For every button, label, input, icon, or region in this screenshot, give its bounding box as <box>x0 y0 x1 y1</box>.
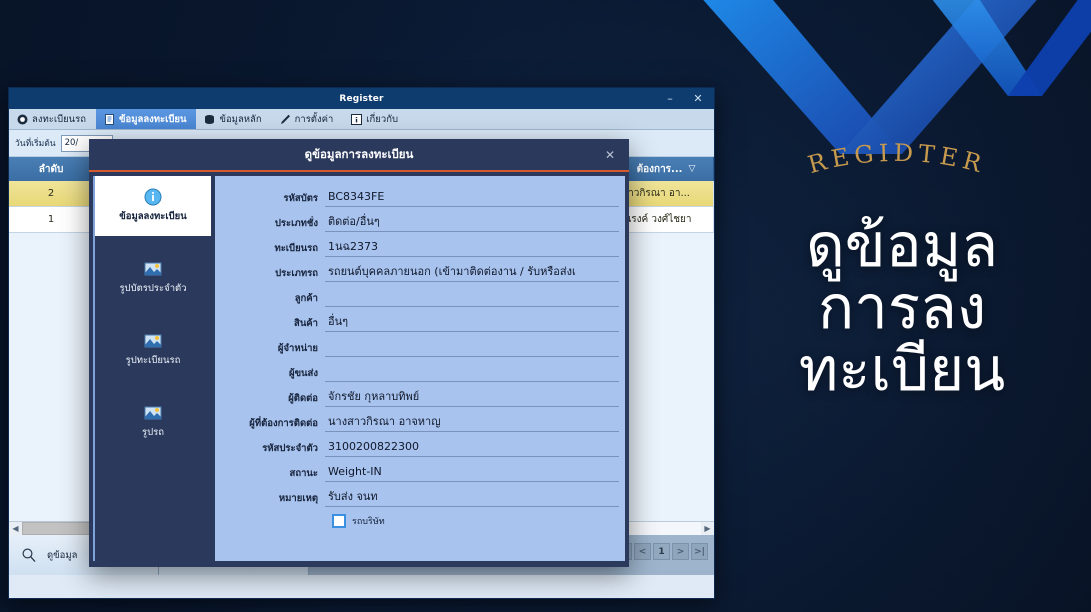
sidebar-item-id-card-image[interactable]: รูปบัตรประจำตัว <box>95 248 211 308</box>
tab-label: ข้อมูลหลัก <box>219 112 261 127</box>
tab-label: การตั้งค่า <box>295 112 334 127</box>
sidebar-item-label: รูปทะเบียนรถ <box>126 353 181 368</box>
headline-line-1: ดูข้อมูล <box>718 216 1086 278</box>
company-vehicle-label: รถบริษัท <box>352 514 385 528</box>
tab-label: เกี่ยวกับ <box>366 112 398 127</box>
field-vehicle-type: ประเภทรถ รถยนต์บุคคลภายนอก (เข้ามาติดต่อ… <box>221 259 619 282</box>
field-label: ผู้ที่ต้องการติดต่อ <box>221 419 325 433</box>
field-label: ผู้จำหน่าย <box>221 344 325 358</box>
brand-arc-text: REGIDTER <box>727 140 1087 200</box>
sidebar-item-label: รูปบัตรประจำตัว <box>119 281 186 296</box>
field-value[interactable]: 3100200822300 <box>325 436 619 457</box>
tab-master-data[interactable]: ข้อมูลหลัก <box>196 109 271 129</box>
tab-bar: ลงทะเบียนรถ ข้อมูลลงทะเบียน ข้อมูลหลัก ก… <box>9 109 714 130</box>
field-value[interactable]: 1นฉ2373 <box>325 236 619 257</box>
grid-header-seq[interactable]: ลำดับ <box>9 157 94 181</box>
cell-seq: 2 <box>9 181 94 206</box>
prev-page-button[interactable]: < <box>634 543 651 560</box>
last-page-button[interactable]: >| <box>691 543 708 560</box>
field-product: สินค้า อื่นๆ <box>221 309 619 332</box>
tab-register-vehicle[interactable]: ลงทะเบียนรถ <box>9 109 96 129</box>
field-value[interactable]: ติดต่อ/อื่นๆ <box>325 211 619 232</box>
database-icon <box>204 114 215 125</box>
scroll-right-icon[interactable]: ▶ <box>701 522 714 535</box>
field-label: ทะเบียนรถ <box>221 244 325 258</box>
field-value[interactable]: อื่นๆ <box>325 311 619 332</box>
cell-contact: ณรงค์ วงศ์ไชยา <box>619 207 714 232</box>
tab-settings[interactable]: การตั้งค่า <box>272 109 344 129</box>
field-value[interactable] <box>325 286 619 307</box>
field-status: สถานะ Weight-IN <box>221 459 619 482</box>
window-title: Register <box>339 94 383 104</box>
magnifier-icon <box>21 547 37 563</box>
field-value[interactable]: Weight-IN <box>325 461 619 482</box>
registration-details-dialog: ดูข้อมูลการลงทะเบียน ✕ ข้อมูลลงทะเบียน ร… <box>89 139 629 567</box>
field-value[interactable]: นางสาวกิรณา อาจหาญ <box>325 411 619 432</box>
field-contact-person: ผู้ติดต่อ จักรชัย กุหลาบทิพย์ <box>221 384 619 407</box>
cell-contact: สาวกิรณา อา... <box>619 181 714 206</box>
headline-line-3: ทะเบียน <box>718 340 1086 402</box>
headline-line-2: การลง <box>718 278 1086 340</box>
field-label: ผู้ขนส่ง <box>221 369 325 383</box>
sidebar-item-plate-image[interactable]: รูปทะเบียนรถ <box>95 320 211 380</box>
company-vehicle-checkbox[interactable] <box>332 514 346 528</box>
tab-label: ข้อมูลลงทะเบียน <box>119 112 186 127</box>
svg-text:REGIDTER: REGIDTER <box>805 139 989 179</box>
field-label: สถานะ <box>221 469 325 483</box>
field-label: รหัสบัตร <box>221 194 325 208</box>
dialog-body: ข้อมูลลงทะเบียน รูปบัตรประจำตัว รูปทะเบี… <box>89 170 629 567</box>
sidebar-item-registration-info[interactable]: ข้อมูลลงทะเบียน <box>95 176 211 236</box>
field-card-code: รหัสบัตร BC8343FE <box>221 184 619 207</box>
company-vehicle-checkbox-row: รถบริษัท <box>221 509 619 528</box>
field-value[interactable]: BC8343FE <box>325 186 619 207</box>
field-value[interactable] <box>325 361 619 382</box>
field-weigh-type: ประเภทชั่ง ติดต่อ/อื่นๆ <box>221 209 619 232</box>
grid-header-contact[interactable]: ต้องการ... ▽ <box>619 157 714 181</box>
sidebar-spacer <box>95 380 211 392</box>
field-value[interactable]: รับส่ง จนท <box>325 486 619 507</box>
next-page-button[interactable]: > <box>672 543 689 560</box>
close-icon[interactable]: ✕ <box>684 88 712 109</box>
image-icon <box>144 260 162 278</box>
field-supplier: ผู้จำหน่าย <box>221 334 619 357</box>
sidebar-spacer <box>95 236 211 248</box>
circle-record-icon <box>17 114 28 125</box>
image-icon <box>144 404 162 422</box>
minimize-icon[interactable]: – <box>656 88 684 109</box>
view-data-label: ดูข้อมูล <box>47 548 77 563</box>
field-label: หมายเหตุ <box>221 494 325 508</box>
window-titlebar: Register – ✕ <box>9 88 714 109</box>
sidebar-item-label: รูปรถ <box>142 425 164 440</box>
field-person-to-contact: ผู้ที่ต้องการติดต่อ นางสาวกิรณา อาจหาญ <box>221 409 619 432</box>
filter-icon[interactable]: ▽ <box>688 164 695 174</box>
start-date-label: วันที่เริ่มต้น <box>15 136 56 150</box>
sidebar-item-label: ข้อมูลลงทะเบียน <box>119 209 186 224</box>
grid-header-contact-label: ต้องการ... <box>637 162 683 177</box>
sidebar-item-vehicle-image[interactable]: รูปรถ <box>95 392 211 452</box>
field-value[interactable] <box>325 336 619 357</box>
w-logo <box>690 0 1091 156</box>
info-circle-icon <box>144 188 162 206</box>
info-icon <box>351 114 362 125</box>
cell-seq: 1 <box>9 207 94 232</box>
close-icon[interactable]: ✕ <box>599 139 621 170</box>
field-customer: ลูกค้า <box>221 284 619 307</box>
tab-registration-data[interactable]: ข้อมูลลงทะเบียน <box>96 109 196 129</box>
field-transporter: ผู้ขนส่ง <box>221 359 619 382</box>
field-national-id: รหัสประจำตัว 3100200822300 <box>221 434 619 457</box>
sidebar-spacer <box>95 308 211 320</box>
field-label: ลูกค้า <box>221 294 325 308</box>
page-1-button[interactable]: 1 <box>653 543 670 560</box>
tab-about[interactable]: เกี่ยวกับ <box>343 109 413 129</box>
window-controls: – ✕ <box>656 88 712 109</box>
dialog-title: ดูข้อมูลการลงทะเบียน <box>305 146 414 164</box>
field-value[interactable]: จักรชัย กุหลาบทิพย์ <box>325 386 619 407</box>
field-label: สินค้า <box>221 319 325 333</box>
scroll-left-icon[interactable]: ◀ <box>9 522 22 535</box>
field-label: ประเภทรถ <box>221 269 325 283</box>
field-label: ประเภทชั่ง <box>221 219 325 233</box>
field-remark: หมายเหตุ รับส่ง จนท <box>221 484 619 507</box>
registration-form: รหัสบัตร BC8343FE ประเภทชั่ง ติดต่อ/อื่น… <box>215 176 625 561</box>
brand-arc-label: REGIDTER <box>805 139 989 179</box>
field-label: รหัสประจำตัว <box>221 444 325 458</box>
field-license-plate: ทะเบียนรถ 1นฉ2373 <box>221 234 619 257</box>
tab-label: ลงทะเบียนรถ <box>32 112 86 127</box>
field-label: ผู้ติดต่อ <box>221 394 325 408</box>
dialog-sidebar: ข้อมูลลงทะเบียน รูปบัตรประจำตัว รูปทะเบี… <box>93 176 211 561</box>
document-icon <box>104 114 115 125</box>
dialog-titlebar: ดูข้อมูลการลงทะเบียน ✕ <box>89 139 629 170</box>
pencil-icon <box>280 114 291 125</box>
field-value[interactable]: รถยนต์บุคคลภายนอก (เข้ามาติดต่องาน / รับ… <box>325 261 619 282</box>
slide-headline: ดูข้อมูล การลง ทะเบียน <box>718 216 1086 401</box>
image-icon <box>144 332 162 350</box>
